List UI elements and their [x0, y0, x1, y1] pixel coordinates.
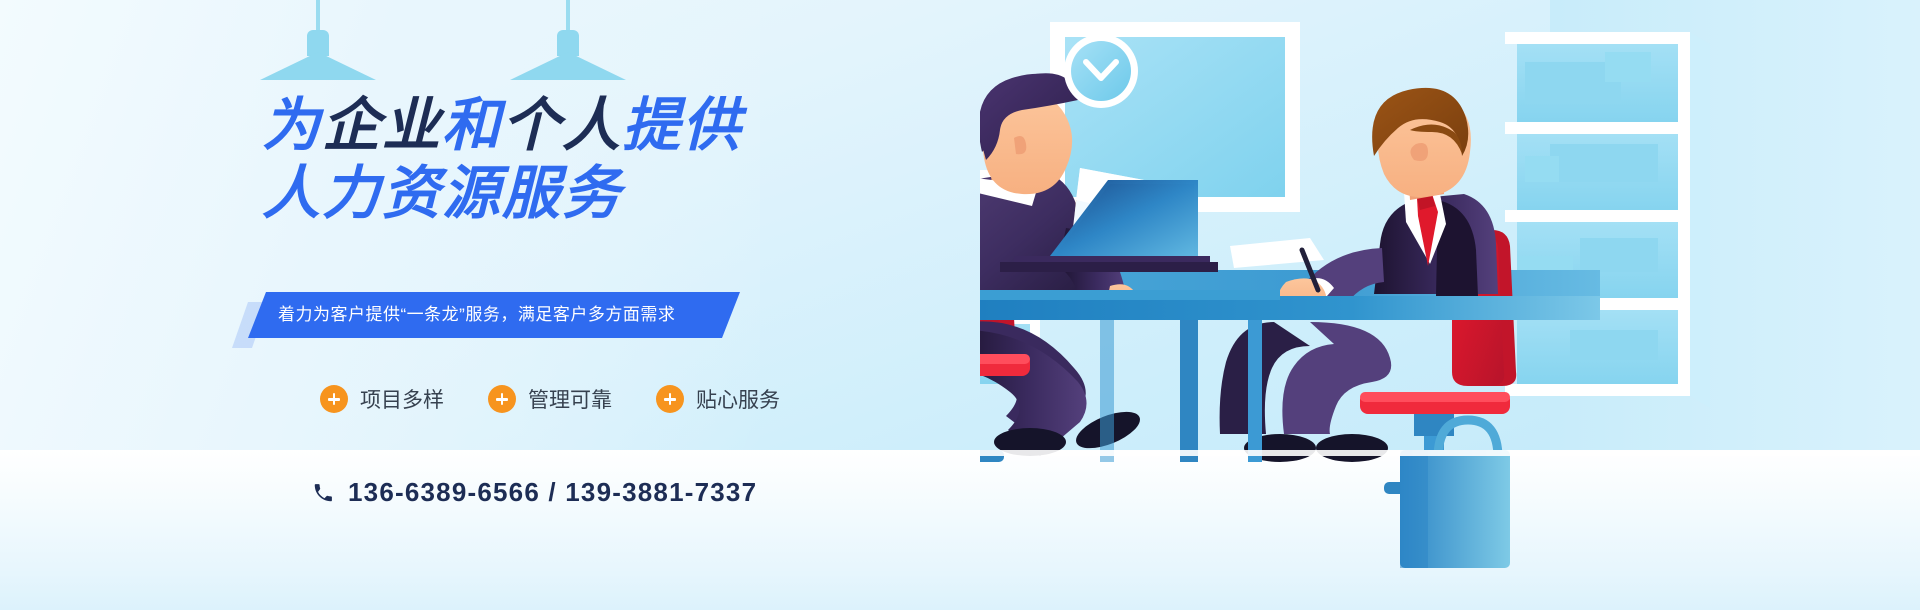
plus-circle-icon	[656, 385, 684, 413]
hr-services-banner: 为企业和个人提供 人力资源服务 着力为客户提供“一条龙”服务，满足客户多方面需求…	[0, 0, 1920, 610]
feature-label: 管理可靠	[528, 384, 612, 414]
headline-seg: 人力资源服务	[262, 161, 622, 226]
feature-label: 项目多样	[360, 384, 444, 414]
headline-seg: 个人	[502, 93, 622, 158]
feature-label: 贴心服务	[696, 384, 780, 414]
floor-strip	[980, 450, 1920, 456]
headline-seg: 为	[262, 93, 322, 158]
headline-line-2: 人力资源服务	[262, 163, 742, 225]
wall-clock	[1064, 34, 1138, 108]
headline-seg: 和	[442, 93, 502, 158]
feature-item: 项目多样	[320, 384, 444, 414]
clock-check-icon	[1082, 56, 1120, 86]
headline-seg: 企业	[322, 93, 442, 158]
feature-item: 管理可靠	[488, 384, 612, 414]
subtitle-text: 着力为客户提供“一条龙”服务，满足客户多方面需求	[278, 292, 738, 338]
feature-list: 项目多样 管理可靠 贴心服务	[320, 384, 780, 414]
bookshelf-right	[1505, 32, 1710, 408]
phone-icon	[312, 482, 334, 504]
contact-phone[interactable]: 136-6389-6566 / 139-3881-7337	[312, 477, 757, 508]
plus-circle-icon	[320, 385, 348, 413]
phone-number: 136-6389-6566 / 139-3881-7337	[348, 477, 757, 508]
copy-block: 为企业和个人提供 人力资源服务 着力为客户提供“一条龙”服务，满足客户多方面需求…	[0, 0, 900, 610]
feature-item: 贴心服务	[656, 384, 780, 414]
person-left-legs	[980, 321, 1145, 456]
desk-leg	[1180, 320, 1198, 462]
plus-circle-icon	[488, 385, 516, 413]
briefcase-icon	[1400, 420, 1510, 568]
desk-leg	[1100, 320, 1114, 462]
desk-leg	[1248, 320, 1262, 462]
shoe	[1316, 434, 1388, 462]
page-title: 为企业和个人提供 人力资源服务	[262, 95, 742, 225]
person-right-side-view	[1278, 88, 1516, 386]
headline-seg: 提供	[622, 93, 742, 158]
